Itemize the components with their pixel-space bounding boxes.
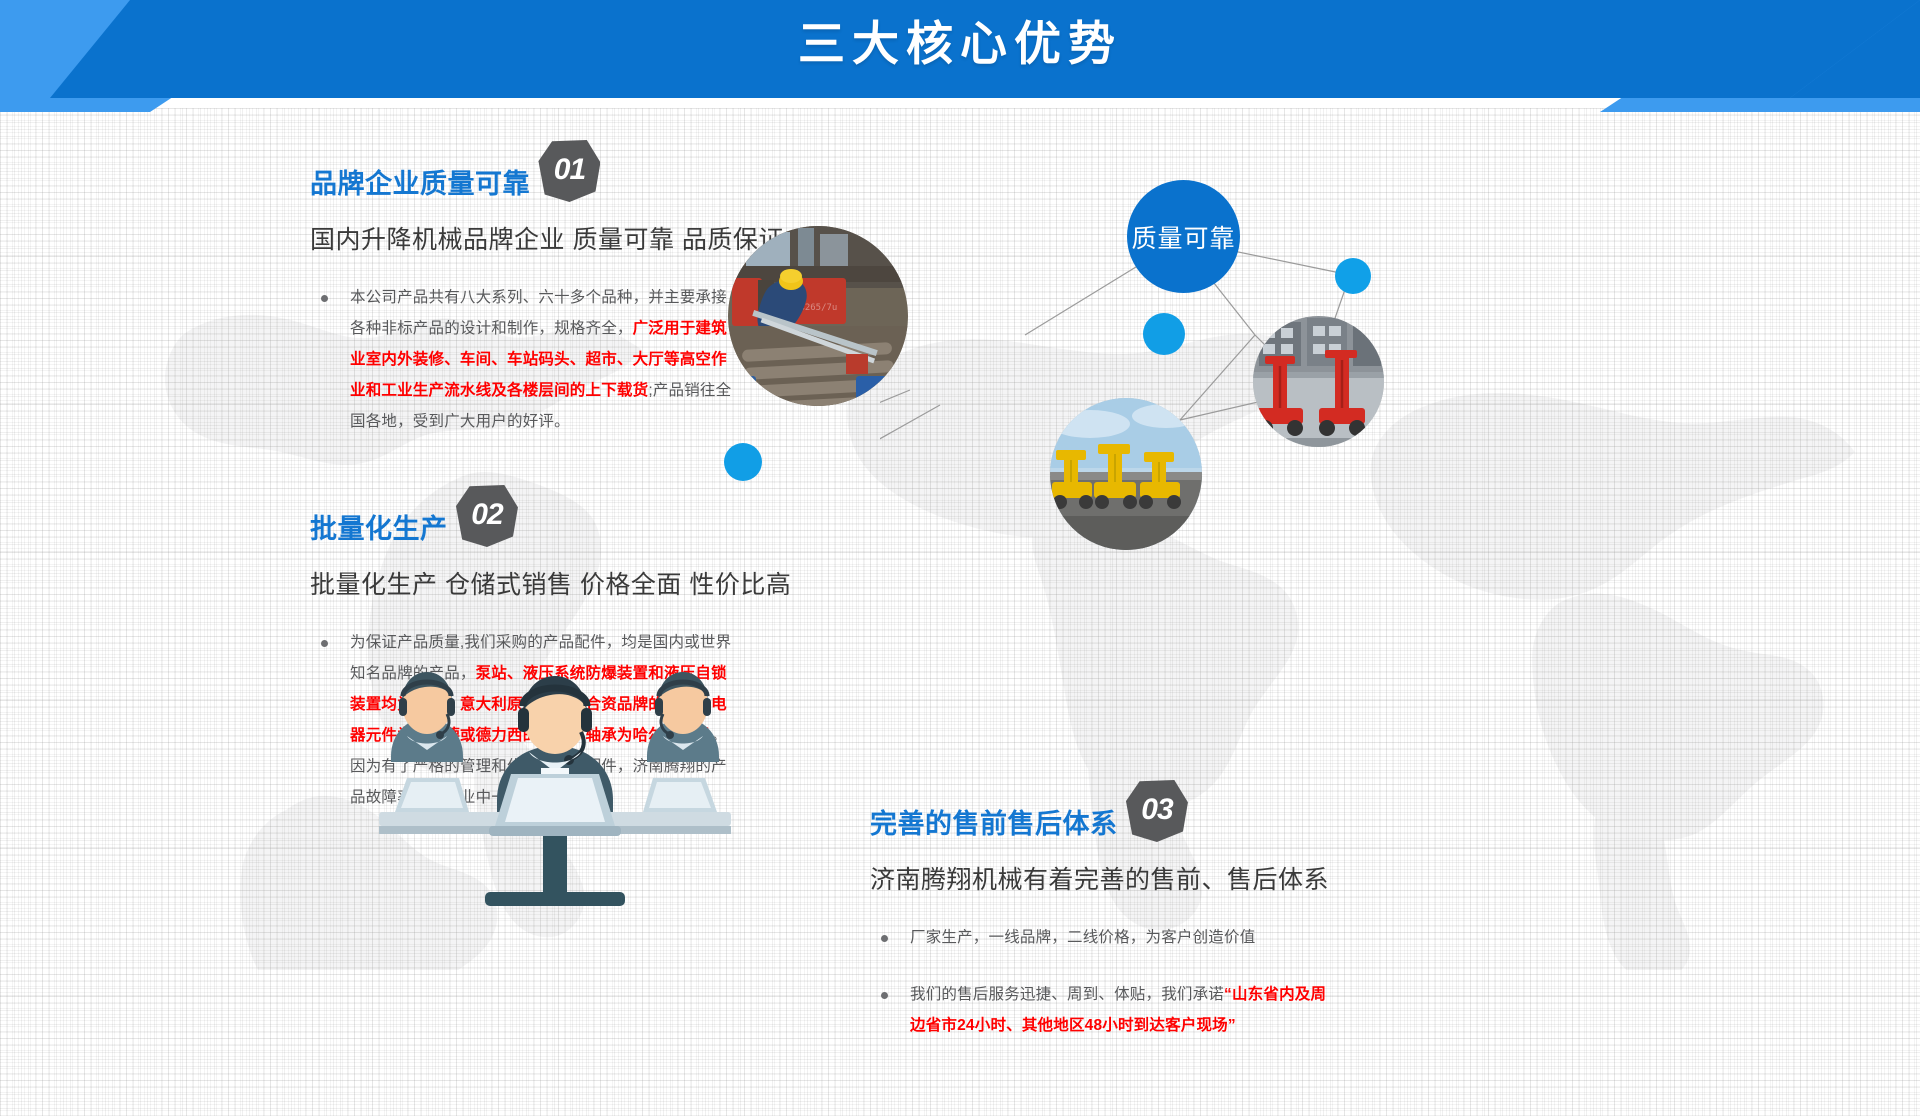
feature-heading-02: 批量化生产 02	[310, 485, 740, 567]
feature-number-badge-01: 01	[538, 140, 600, 202]
operator-right	[647, 672, 719, 762]
network-dot-left	[724, 443, 762, 481]
feature-heading-01: 品牌企业质量可靠 01	[310, 140, 740, 222]
factory-workshop-image: G4265/7u	[728, 226, 908, 406]
feature-bullets-03: 厂家生产，一线品牌，二线价格，为客户创造价值 我们的售后服务迅捷、周到、体贴，我…	[870, 922, 1330, 1041]
laptop-left	[395, 778, 469, 812]
bullet-seg: 我们的售后服务迅捷、周到、体贴，我们承诺	[910, 986, 1224, 1003]
feature-number-01: 01	[538, 139, 600, 201]
feature-subtitle-03: 济南腾翔机械有着完善的售前、售后体系	[870, 860, 1330, 896]
red-lift-platform-photo	[1253, 316, 1384, 447]
network-dot-center	[1143, 313, 1185, 355]
feature-title-02: 批量化生产	[310, 507, 448, 546]
page-title: 三大核心优势	[0, 0, 1920, 88]
feature-title-03: 完善的售前售后体系	[870, 802, 1118, 841]
network-main-node-label: 质量可靠	[1131, 219, 1235, 255]
feature-number-02: 02	[456, 484, 518, 546]
feature-number-badge-03: 03	[1126, 780, 1188, 842]
network-main-node: 质量可靠	[1127, 180, 1240, 293]
bullet-item: 本公司产品共有八大系列、六十多个品种，并主要承接各种非标产品的设计和制作，规格齐…	[310, 282, 740, 437]
header-banner: 三大核心优势	[0, 0, 1920, 110]
call-center-illustration	[355, 640, 755, 910]
operator-left	[391, 672, 463, 762]
aerial-platform-image	[1050, 398, 1202, 550]
feature-block-03: 完善的售前售后体系 03 济南腾翔机械有着完善的售前、售后体系 厂家生产，一线品…	[870, 780, 1330, 1041]
feature-bullets-01: 本公司产品共有八大系列、六十多个品种，并主要承接各种非标产品的设计和制作，规格齐…	[310, 282, 740, 437]
factory-workshop-photo: G4265/7u	[728, 226, 908, 406]
network-diagram: 质量可靠 G4265/7u	[880, 140, 1500, 560]
feature-heading-03: 完善的售前售后体系 03	[870, 780, 1330, 862]
aerial-work-platform-photo	[1050, 398, 1202, 550]
laptop-right	[643, 778, 717, 812]
red-lift-image	[1253, 316, 1384, 447]
bullet-item: 厂家生产，一线品牌，二线价格，为客户创造价值	[870, 922, 1330, 953]
laptop-center	[489, 774, 621, 836]
connector-line	[1180, 335, 1255, 420]
call-center-image	[355, 640, 755, 910]
stand-column	[543, 836, 567, 892]
feature-number-03: 03	[1126, 779, 1188, 841]
feature-block-01: 品牌企业质量可靠 01 国内升降机械品牌企业 质量可靠 品质保证 本公司产品共有…	[310, 140, 740, 437]
feature-number-badge-02: 02	[456, 485, 518, 547]
stand-base	[485, 892, 625, 906]
feature-subtitle-01: 国内升降机械品牌企业 质量可靠 品质保证	[310, 220, 740, 256]
network-dot-top-right	[1335, 258, 1371, 294]
feature-title-01: 品牌企业质量可靠	[310, 162, 530, 201]
slide-canvas: 三大核心优势 品牌企业质量可靠 01 国内升降机械品牌企业 质量可靠 品质保证 …	[0, 0, 1920, 1116]
bullet-item: 我们的售后服务迅捷、周到、体贴，我们承诺“山东省内及周边省市24小时、其他地区4…	[870, 979, 1330, 1041]
bullet-seg: 厂家生产，一线品牌，二线价格，为客户创造价值	[910, 929, 1255, 946]
feature-subtitle-02: 批量化生产 仓储式销售 价格全面 性价比高	[310, 565, 740, 601]
connector-line	[880, 405, 940, 450]
